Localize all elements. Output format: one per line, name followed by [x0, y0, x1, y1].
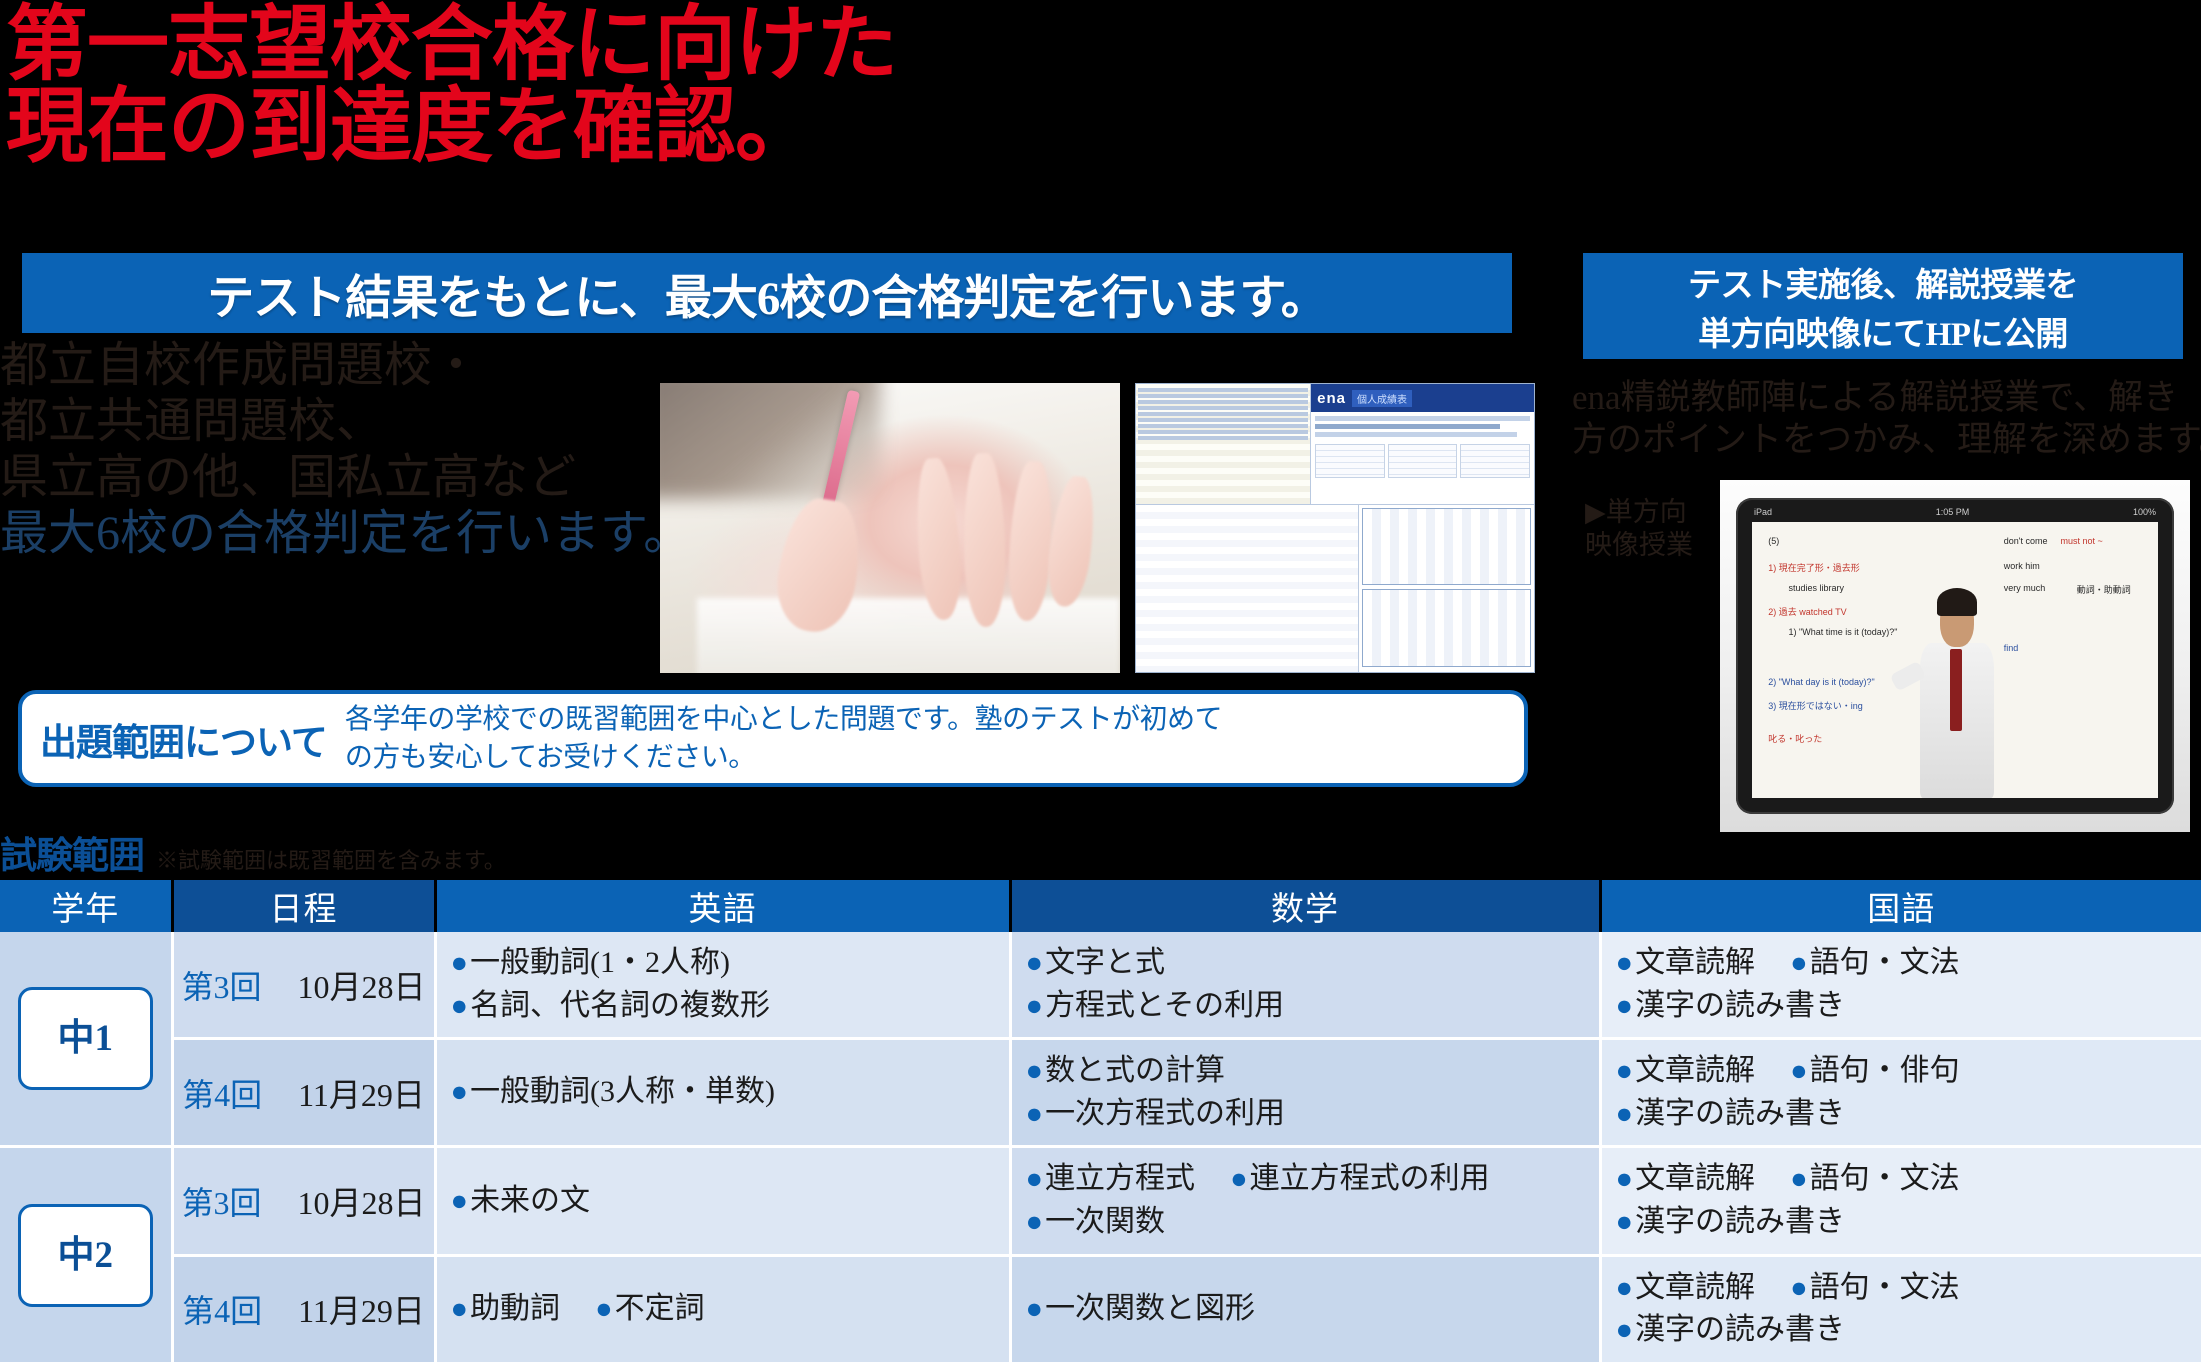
table-row: 第4回 11月29日 ●助動詞 ●不定詞 ●一次関数と図形 ●文章読解 ●語句・…: [0, 1255, 2201, 1362]
math-item-r3-1: 連立方程式: [1045, 1162, 1195, 1195]
jpn-item-r4-3: 漢字の読み書き: [1635, 1313, 1845, 1346]
left-desc-line-4: 最大6校の合格判定を行います。: [0, 506, 760, 562]
grade-pill-2: 中2: [18, 1204, 153, 1307]
jpn-item-r3-2: 語句・文法: [1810, 1162, 1960, 1195]
whiteboard-line-3: 2) 過去 watched TV: [1768, 605, 1846, 618]
kai-label-r4: 第4回: [182, 1293, 262, 1329]
kai-label-r3: 第3回: [182, 1185, 262, 1221]
sheet-info-bars: [1311, 412, 1534, 437]
bullet-icon: ●: [1616, 1272, 1634, 1304]
kai-label-r1: 第3回: [182, 969, 262, 1005]
th-japanese: 国語: [1600, 880, 2201, 932]
math-item-r2-1: 数と式の計算: [1045, 1054, 1225, 1087]
whiteboard-line-6: 3) 現在形ではない・ing: [1768, 699, 1863, 712]
whiteboard-line-7: 叱る・叱った: [1768, 732, 1822, 745]
th-math: 数学: [1010, 880, 1600, 932]
left-description-list: 都立自校作成問題校・ 都立共通問題校、 県立高の他、国私立高など 最大6校の合格…: [0, 338, 760, 563]
table-row: 中1 第3回 10月28日 ●一般動詞(1・2人称) ●名詞、代名詞の複数形 ●…: [0, 932, 2201, 1039]
japanese-cell-r3: ●文章読解 ●語句・文法 ●漢字の読み書き: [1600, 1147, 2201, 1255]
english-item-r2-1: 一般動詞(3人称・単数): [470, 1075, 775, 1108]
bullet-icon: ●: [595, 1293, 613, 1325]
whiteboard-line-5: 2) "What day is it (today)?": [1768, 677, 1874, 687]
bullet-icon: ●: [1616, 1163, 1634, 1195]
jpn-item-r4-1: 文章読解: [1635, 1271, 1755, 1304]
bullet-icon: ●: [451, 1293, 469, 1325]
schedule-cell-r4: 第4回 11月29日: [172, 1255, 435, 1362]
math-item-r3-3: 一次関数: [1045, 1205, 1165, 1238]
math-cell-r1: ●文字と式 ●方程式とその利用: [1010, 932, 1600, 1039]
english-item-r4-1: 助動詞: [470, 1292, 560, 1325]
english-item-r3-1: 未来の文: [470, 1184, 590, 1217]
sheet-side-boxes: [1359, 505, 1534, 672]
sheet-logo-bar: ena 個人成績表: [1311, 384, 1534, 412]
math-item-r2-2: 一次方程式の利用: [1045, 1097, 1285, 1130]
bullet-icon: ●: [1616, 1055, 1634, 1087]
bullet-icon: ●: [1790, 1163, 1808, 1195]
math-cell-r2: ●数と式の計算 ●一次方程式の利用: [1010, 1039, 1600, 1147]
date-label-r1: 10月28日: [298, 969, 426, 1005]
bullet-icon: ●: [451, 990, 469, 1022]
whiteboard-line-13: find: [2004, 643, 2019, 653]
sheet-bottom-section: [1136, 505, 1534, 672]
bullet-icon: ●: [1026, 1206, 1044, 1238]
math-item-r1-1: 文字と式: [1045, 946, 1165, 979]
bullet-icon: ●: [1616, 990, 1634, 1022]
bullet-icon: ●: [1026, 947, 1044, 979]
jpn-item-r1-2: 語句・文法: [1810, 946, 1960, 979]
photo-score-report: ena 個人成績表: [1135, 383, 1535, 673]
english-cell-r1: ●一般動詞(1・2人称) ●名詞、代名詞の複数形: [435, 932, 1010, 1039]
left-desc-line-1: 都立自校作成問題校・: [0, 338, 760, 394]
jpn-item-r1-3: 漢字の読み書き: [1635, 989, 1845, 1022]
jpn-item-r1-1: 文章読解: [1635, 946, 1755, 979]
banner-left-text: テスト結果をもとに、最大6校の合格判定を行います。: [207, 259, 1326, 328]
right-desc-line-1: ena精鋭教師陣による解説授業で、解き: [1572, 377, 2201, 419]
math-cell-r3: ●連立方程式 ●連立方程式の利用 ●一次関数: [1010, 1147, 1600, 1255]
grade-pill-1: 中1: [18, 987, 153, 1090]
headline-block: 第一志望校合格に向けた 現在の到達度を確認。: [0, 0, 1218, 245]
sheet-subject-grid: [1311, 440, 1534, 482]
sheet-detail-list: [1136, 505, 1359, 672]
tablet-time: 1:05 PM: [1936, 507, 1970, 517]
banner-right-line-2: 単方向映像にてHPに公開: [1698, 307, 2068, 355]
whiteboard-line-1: 1) 現在完了形・過去形: [1768, 561, 1860, 574]
photo-finger-4: [1043, 474, 1100, 609]
scope-note-title: 出題範囲について: [40, 712, 327, 766]
exam-scope-heading: 試験範囲 ※試験範囲は既習範囲を含みます。: [0, 825, 506, 879]
english-cell-r4: ●助動詞 ●不定詞: [435, 1255, 1010, 1362]
scope-note-box: 出題範囲について 各学年の学校での既習範囲を中心とした問題です。塾のテストが初め…: [18, 690, 1528, 787]
jpn-item-r2-1: 文章読解: [1635, 1054, 1755, 1087]
th-schedule: 日程: [172, 880, 435, 932]
sheet-top-section: ena 個人成績表: [1136, 384, 1534, 505]
bullet-icon: ●: [1026, 1098, 1044, 1130]
jpn-item-r2-3: 漢字の読み書き: [1635, 1097, 1845, 1130]
schedule-cell-r2: 第4回 11月29日: [172, 1039, 435, 1147]
scope-note-body-line-1: 各学年の学校での既習範囲を中心とした問題です。塾のテストが初めて: [345, 701, 1222, 739]
exam-scope-title: 試験範囲: [0, 825, 144, 879]
tablet-device-mock: iPad 1:05 PM 100% (5) 1) 現在完了形・過去形 studi…: [1720, 480, 2190, 832]
right-desc-line-2: 方のポイントをつかみ、理解を深めます。: [1572, 419, 2201, 461]
bullet-icon: ●: [1790, 947, 1808, 979]
english-cell-r3: ●未来の文: [435, 1147, 1010, 1255]
english-cell-r2: ●一般動詞(3人称・単数): [435, 1039, 1010, 1147]
whiteboard-line-11: very much: [2004, 583, 2046, 593]
left-desc-line-2: 都立共通問題校、: [0, 394, 760, 450]
sheet-header-panel: ena 個人成績表: [1311, 384, 1534, 504]
schedule-cell-r1: 第3回 10月28日: [172, 932, 435, 1039]
sheet-logo-badge: 個人成績表: [1352, 390, 1412, 407]
math-cell-r4: ●一次関数と図形: [1010, 1255, 1600, 1362]
tablet-battery: 100%: [2133, 507, 2156, 517]
banner-right-line-1: テスト実施後、解説授業を: [1688, 258, 2078, 306]
kai-label-r2: 第4回: [182, 1077, 262, 1113]
sheet-score-table: [1136, 384, 1311, 504]
photo-finger-2: [962, 452, 1006, 627]
headline-line-1: 第一志望校合格に向けた: [6, 4, 1218, 86]
exam-scope-table: 学年 日程 英語 数学 国語 中1 第3回 10月28日 ●一般動詞(1・2人称…: [0, 880, 2201, 1362]
english-item-r1-1: 一般動詞(1・2人称): [470, 946, 730, 979]
grade-cell-2: 中2: [0, 1147, 172, 1362]
bullet-icon: ●: [451, 1076, 469, 1108]
japanese-cell-r1: ●文章読解 ●語句・文法 ●漢字の読み書き: [1600, 932, 2201, 1039]
date-label-r4: 11月29日: [298, 1293, 425, 1329]
japanese-cell-r2: ●文章読解 ●語句・俳句 ●漢字の読み書き: [1600, 1039, 2201, 1147]
whiteboard-line-4: 1) "What time is it (today)?": [1789, 627, 1898, 637]
bullet-icon: ●: [1026, 1293, 1044, 1325]
jpn-item-r4-2: 語句・文法: [1810, 1271, 1960, 1304]
bullet-icon: ●: [451, 1185, 469, 1217]
left-desc-line-3: 県立高の他、国私立高など: [0, 450, 760, 506]
scope-note-body-line-2: の方も安心してお受けください。: [345, 739, 1222, 777]
whiteboard-line-9: must not ~: [2061, 536, 2103, 546]
table-header-row: 学年 日程 英語 数学 国語: [0, 880, 2201, 932]
english-item-r4-2: 不定詞: [615, 1292, 705, 1325]
bullet-icon: ●: [1026, 1055, 1044, 1087]
date-label-r3: 10月28日: [298, 1185, 426, 1221]
photo-student-writing: [660, 383, 1120, 673]
tablet-carrier: iPad: [1754, 507, 1772, 517]
whiteboard-line-0: (5): [1768, 536, 1779, 546]
headline-line-2: 現在の到達度を確認。: [6, 86, 1218, 168]
th-grade: 学年: [0, 880, 172, 932]
whiteboard-line-10: work him: [2004, 561, 2040, 571]
bullet-icon: ●: [1790, 1055, 1808, 1087]
jpn-item-r3-3: 漢字の読み書き: [1635, 1205, 1845, 1238]
photo-paper: [697, 598, 1120, 673]
bullet-icon: ●: [1026, 990, 1044, 1022]
bullet-icon: ●: [1790, 1272, 1808, 1304]
tablet-status-bar: iPad 1:05 PM 100%: [1736, 504, 2174, 520]
banner-left: テスト結果をもとに、最大6校の合格判定を行います。: [22, 253, 1512, 333]
bullet-icon: ●: [1616, 1098, 1634, 1130]
table-row: 第4回 11月29日 ●一般動詞(3人称・単数) ●数と式の計算 ●一次方程式の…: [0, 1039, 2201, 1147]
schedule-cell-r3: 第3回 10月28日: [172, 1147, 435, 1255]
english-item-r1-2: 名詞、代名詞の複数形: [470, 989, 770, 1022]
japanese-cell-r4: ●文章読解 ●語句・文法 ●漢字の読み書き: [1600, 1255, 2201, 1362]
math-item-r1-2: 方程式とその利用: [1045, 989, 1284, 1022]
exam-scope-note: ※試験範囲は既習範囲を含みます。: [156, 843, 506, 879]
jpn-item-r3-1: 文章読解: [1635, 1162, 1755, 1195]
bullet-icon: ●: [1230, 1163, 1248, 1195]
math-item-r4-1: 一次関数と図形: [1045, 1292, 1255, 1325]
bullet-icon: ●: [1026, 1163, 1044, 1195]
tablet-screen-video[interactable]: (5) 1) 現在完了形・過去形 studies library 2) 過去 w…: [1752, 522, 2158, 798]
scope-note-body: 各学年の学校での既習範囲を中心とした問題です。塾のテストが初めて の方も安心して…: [345, 701, 1222, 777]
right-description: ena精鋭教師陣による解説授業で、解き 方のポイントをつかみ、理解を深めます。: [1572, 377, 2201, 461]
bullet-icon: ●: [1616, 1314, 1634, 1346]
teacher-figure: [1918, 594, 1995, 798]
bullet-icon: ●: [1616, 1206, 1634, 1238]
whiteboard-line-12: 動詞・助動詞: [2077, 583, 2131, 596]
whiteboard-line-8: don't come: [2004, 536, 2048, 546]
date-label-r2: 11月29日: [298, 1077, 425, 1113]
jpn-item-r2-2: 語句・俳句: [1810, 1054, 1960, 1087]
math-item-r3-2: 連立方程式の利用: [1250, 1162, 1490, 1195]
bullet-icon: ●: [1616, 947, 1634, 979]
banner-right: テスト実施後、解説授業を 単方向映像にてHPに公開: [1583, 253, 2183, 359]
th-english: 英語: [435, 880, 1010, 932]
table-row: 中2 第3回 10月28日 ●未来の文 ●連立方程式 ●連立方程式の利用 ●一次…: [0, 1147, 2201, 1255]
bullet-icon: ●: [451, 947, 469, 979]
ena-logo: ena: [1317, 390, 1346, 407]
grade-cell-1: 中1: [0, 932, 172, 1147]
tablet-bezel: iPad 1:05 PM 100% (5) 1) 現在完了形・過去形 studi…: [1736, 498, 2174, 814]
whiteboard-line-2: studies library: [1789, 583, 1845, 593]
